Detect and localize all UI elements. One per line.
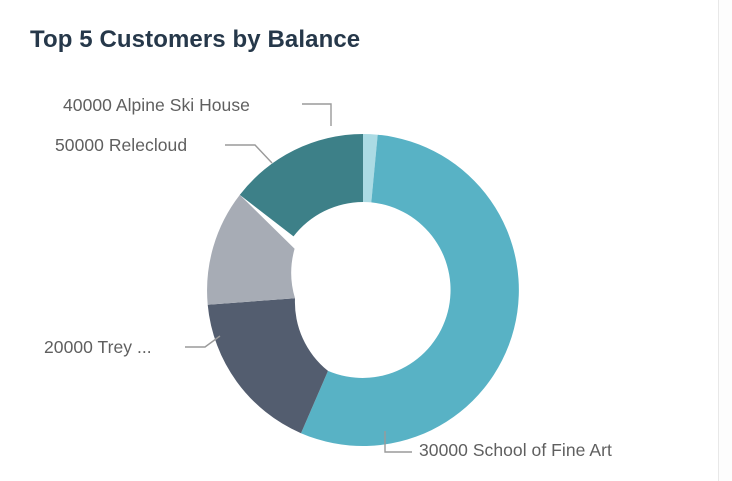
panel-divider [718,0,719,481]
leader-line-alpine-icon [302,104,331,126]
slice-label-relecloud: 50000 Relecloud [55,135,187,156]
panel-gutter [719,0,732,481]
donut-chart[interactable] [0,0,732,481]
slice-label-trey: 20000 Trey ... [44,337,152,358]
slice-label-alpine-ski-house: 40000 Alpine Ski House [63,95,250,116]
leader-line-relecloud-icon [225,145,272,163]
slice-label-school-of-fine-art: 30000 School of Fine Art [419,440,612,461]
chart-card: Top 5 Customers by Balance 40000 Alpine … [0,0,732,481]
